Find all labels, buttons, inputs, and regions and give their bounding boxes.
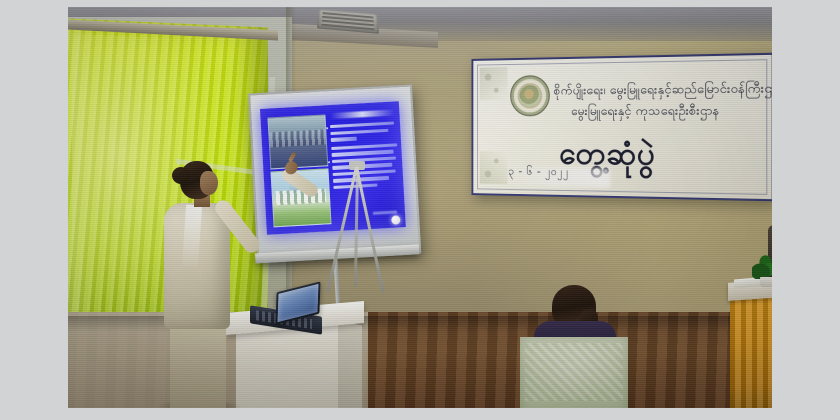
banner-ministry-line: စိုက်ပျိုးရေး၊ မွေးမြူရေးနှင့်ဆည်မြောင်း…	[554, 80, 772, 102]
audience-person-foreground	[518, 285, 630, 408]
open-laptop	[250, 287, 328, 331]
presenter-face	[200, 171, 218, 195]
meeting-room-photograph: စိုက်ပျိုးရေး၊ မွေးမြူရေးနှင့်ဆည်မြောင်း…	[68, 7, 772, 408]
head-table	[728, 279, 772, 408]
banner-department-line: မွေးမြူရေးနှင့် ကုသရေးဦးစီးဌာန	[571, 102, 720, 122]
tripod-leg-left	[326, 167, 357, 292]
slide-image-ceremony-crowd	[267, 114, 328, 169]
podium-table	[226, 307, 364, 408]
plant-pot	[760, 277, 772, 287]
banner-corner-ornament-top	[480, 67, 508, 100]
presenter-hair-bun	[172, 167, 190, 184]
ministry-seal-icon	[510, 75, 550, 116]
tripod-leg-right	[355, 167, 384, 293]
chair-back-cover	[520, 337, 628, 408]
plant-leaves	[752, 255, 772, 279]
table-skirt-orange	[730, 290, 772, 408]
banner-date: ၃ - ၆ - ၂၀၂၂	[508, 165, 569, 181]
podium-side-panel	[338, 320, 362, 408]
presenter-skirt	[170, 323, 226, 408]
table-plant	[752, 257, 772, 287]
podium-front-panel	[236, 322, 346, 408]
slide-title-text	[330, 109, 394, 119]
screen-tripod-stand	[315, 167, 405, 297]
presenter-woman	[156, 155, 246, 408]
event-banner: စိုက်ပျိုးရေး၊ မွေးမြူရေးနှင့်ဆည်မြောင်း…	[472, 53, 772, 202]
screenshot-canvas: စိုက်ပျိုးရေး၊ မွေးမြူရေးနှင့်ဆည်မြောင်း…	[0, 0, 840, 420]
tripod-leg-center	[354, 167, 359, 287]
